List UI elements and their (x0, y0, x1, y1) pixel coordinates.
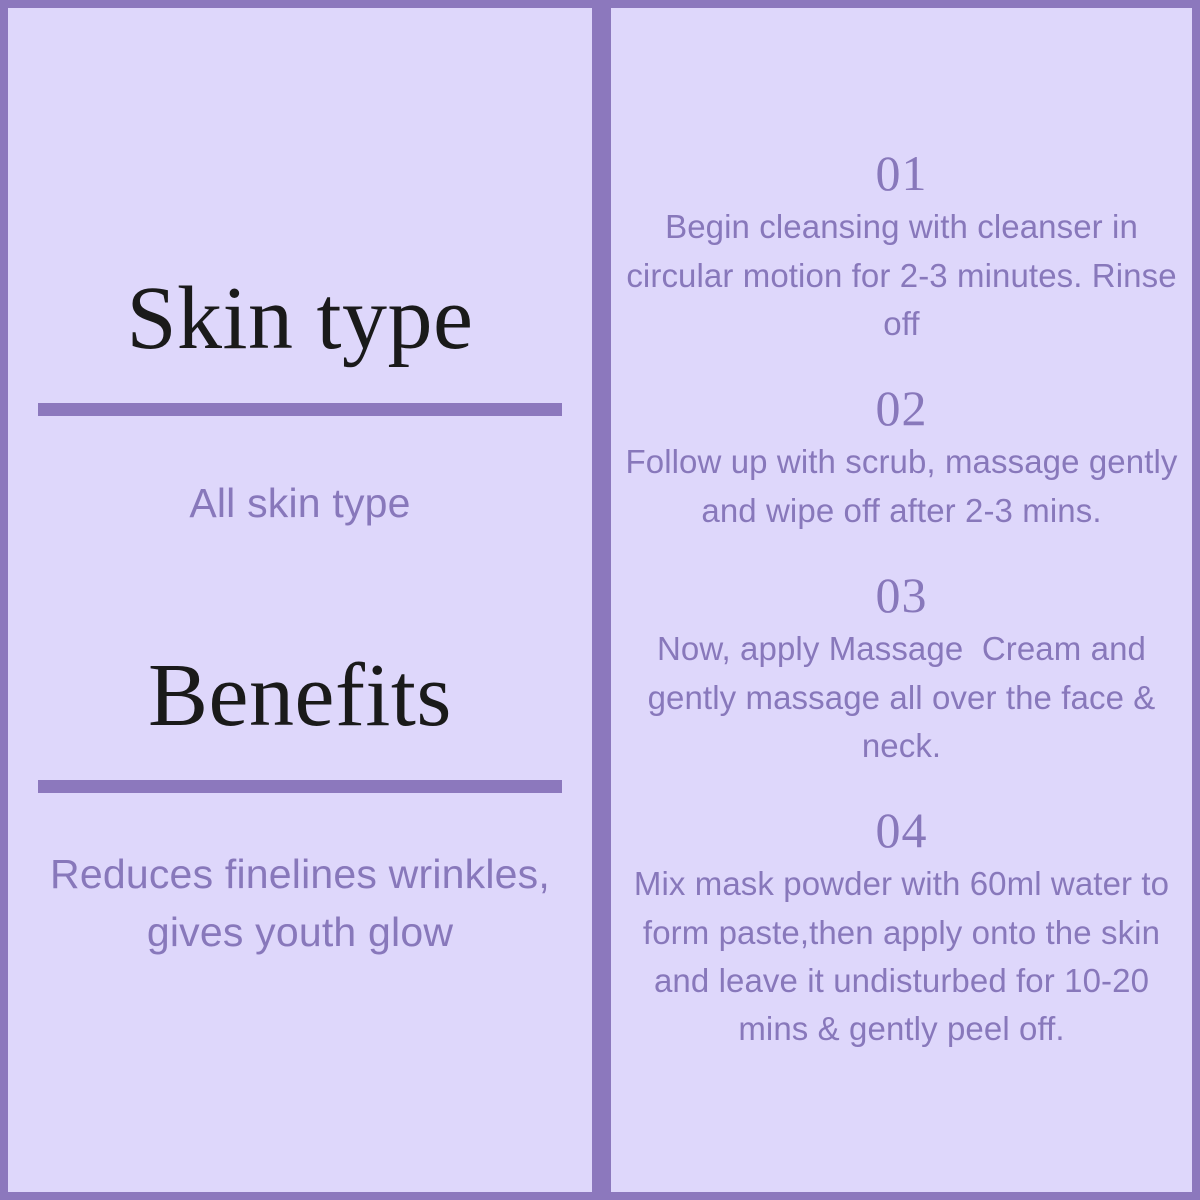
step-description: Mix mask powder with 60ml water to form … (619, 860, 1184, 1053)
benefits-divider-rule (38, 780, 562, 793)
panel-vertical-divider (592, 0, 611, 1200)
benefits-heading: Benefits (148, 650, 452, 742)
step-number: 02 (876, 382, 928, 435)
skin-type-section: Skin type All skin type (8, 273, 592, 532)
step-number: 03 (876, 569, 928, 622)
left-panel-content: Skin type All skin type Benefits Reduces… (8, 239, 592, 961)
step-item: 02 Follow up with scrub, massage gently … (619, 382, 1184, 535)
step-description: Begin cleansing with cleanser in circula… (619, 203, 1184, 348)
step-item: 03 Now, apply Massage Cream and gently m… (619, 569, 1184, 770)
step-number: 01 (876, 147, 928, 200)
step-number: 04 (876, 804, 928, 857)
skin-type-heading: Skin type (126, 273, 473, 365)
step-description: Now, apply Massage Cream and gently mass… (619, 625, 1184, 770)
step-description: Follow up with scrub, massage gently and… (619, 438, 1184, 534)
left-info-panel: Skin type All skin type Benefits Reduces… (8, 8, 592, 1192)
skin-type-body-text: All skin type (163, 474, 436, 532)
step-item: 04 Mix mask powder with 60ml water to fo… (619, 804, 1184, 1053)
right-steps-panel: 01 Begin cleansing with cleanser in circ… (611, 8, 1192, 1192)
skin-type-divider-rule (38, 403, 562, 416)
benefits-section: Benefits Reduces finelines wrinkles, giv… (8, 650, 592, 961)
step-item: 01 Begin cleansing with cleanser in circ… (619, 147, 1184, 348)
steps-list: 01 Begin cleansing with cleanser in circ… (619, 147, 1184, 1053)
benefits-body-text: Reduces finelines wrinkles, gives youth … (8, 845, 592, 961)
product-info-poster: Skin type All skin type Benefits Reduces… (0, 0, 1200, 1200)
